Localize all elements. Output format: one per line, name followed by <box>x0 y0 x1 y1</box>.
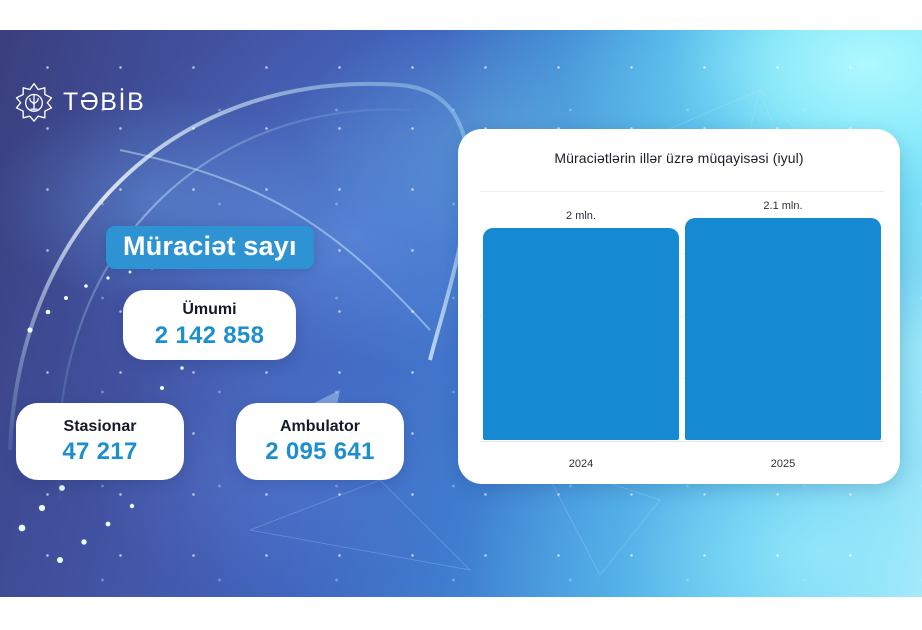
stat-value: 2 142 858 <box>155 323 264 349</box>
bar-value-label: 2.1 mln. <box>685 200 881 212</box>
headline-badge: Müraciət sayı <box>106 226 314 269</box>
chart-axis-line <box>480 441 884 442</box>
brand-name: TƏBİB <box>63 88 145 117</box>
chart-bars: 2 mln. 2.1 mln. <box>480 191 884 440</box>
stat-label: Ambulator <box>280 418 360 436</box>
banner-artwork: TƏBİB Müraciət sayı Ümumi 2 142 858 Stas… <box>0 30 922 597</box>
stat-card-umumi: Ümumi 2 142 858 <box>123 290 296 360</box>
brand-logo: TƏBİB <box>14 82 145 122</box>
poster-page: TƏBİB Müraciət sayı Ümumi 2 142 858 Stas… <box>0 0 922 630</box>
bar-2024[interactable] <box>483 228 679 440</box>
bar-group-2025: 2.1 mln. <box>685 191 881 440</box>
bar-2025[interactable] <box>685 218 881 441</box>
stat-value: 2 095 641 <box>265 439 374 465</box>
stat-value: 47 217 <box>62 439 137 465</box>
stat-card-ambulator: Ambulator 2 095 641 <box>236 403 404 480</box>
x-tick-2025: 2025 <box>685 458 881 470</box>
chart-x-axis: 2024 2025 <box>480 458 884 470</box>
stat-label: Stasionar <box>64 418 137 436</box>
chart-panel: Müraciətlərin illər üzrə müqayisəsi (iyu… <box>458 129 900 484</box>
tebib-star-emblem-icon <box>14 82 54 122</box>
chart-title: Müraciətlərin illər üzrə müqayisəsi (iyu… <box>458 150 900 166</box>
x-tick-2024: 2024 <box>483 458 679 470</box>
chart-plot-area: 2 mln. 2.1 mln. <box>480 191 884 440</box>
stat-card-stasionar: Stasionar 47 217 <box>16 403 184 480</box>
bar-group-2024: 2 mln. <box>483 191 679 440</box>
stat-label: Ümumi <box>182 301 236 319</box>
bar-value-label: 2 mln. <box>483 210 679 222</box>
